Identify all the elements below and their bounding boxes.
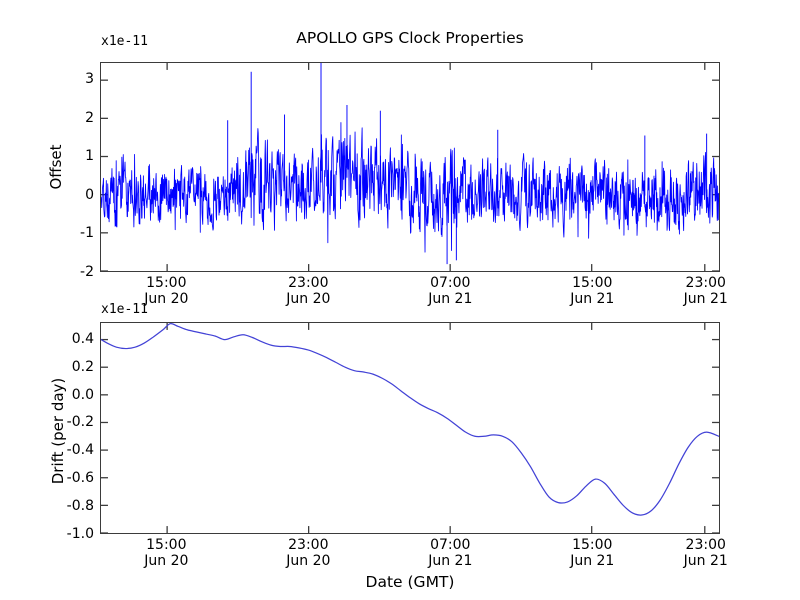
y-tick-label: 2 <box>85 110 94 126</box>
y-tick-label: 1 <box>85 148 94 164</box>
figure-title: APOLLO GPS Clock Properties <box>100 29 720 47</box>
offset-plot-area <box>100 62 720 272</box>
y-tick-label: -0.4 <box>67 442 94 458</box>
x-tick-label: 23:00Jun 21 <box>684 275 728 307</box>
x-axis-label: Date (GMT) <box>100 573 720 591</box>
x-tick-label: 23:00Jun 21 <box>684 537 728 569</box>
y-tick-label: -1 <box>80 225 94 241</box>
offset-exponent-label: x1e-11 <box>101 34 148 49</box>
figure-canvas: APOLLO GPS Clock Properties x1e-11 Offse… <box>0 0 800 600</box>
y-tick-label: -2 <box>80 264 94 280</box>
y-tick-label: -0.2 <box>67 414 94 430</box>
y-tick-label: -1.0 <box>67 526 94 542</box>
offset-x-tick-labels: 15:00Jun 2023:00Jun 2007:00Jun 2115:00Ju… <box>100 275 720 311</box>
y-tick-label: 0.0 <box>72 387 94 403</box>
drift-trace <box>101 323 719 533</box>
x-tick-label: 07:00Jun 21 <box>428 275 472 307</box>
y-tick-label: 0 <box>85 187 94 203</box>
y-tick-label: -0.6 <box>67 470 94 486</box>
x-tick-label: 23:00Jun 20 <box>286 275 330 307</box>
x-tick-label: 07:00Jun 21 <box>428 537 472 569</box>
drift-exponent-label: x1e-11 <box>101 302 148 317</box>
x-tick-label: 15:00Jun 20 <box>144 537 188 569</box>
x-tick-label: 15:00Jun 20 <box>144 275 188 307</box>
drift-x-tick-labels: 15:00Jun 2023:00Jun 2007:00Jun 2115:00Ju… <box>100 537 720 573</box>
x-tick-label: 15:00Jun 21 <box>570 275 614 307</box>
y-tick-label: -0.8 <box>67 498 94 514</box>
x-tick-label: 23:00Jun 20 <box>286 537 330 569</box>
y-tick-label: 3 <box>85 71 94 87</box>
offset-y-tick-labels: -2-10123 <box>34 62 94 272</box>
offset-trace <box>101 63 719 271</box>
y-tick-label: 0.4 <box>72 331 94 347</box>
drift-plot-area <box>100 322 720 534</box>
x-tick-label: 15:00Jun 21 <box>570 537 614 569</box>
y-tick-label: 0.2 <box>72 359 94 375</box>
drift-y-tick-labels: -1.0-0.8-0.6-0.4-0.20.00.20.4 <box>34 322 94 534</box>
